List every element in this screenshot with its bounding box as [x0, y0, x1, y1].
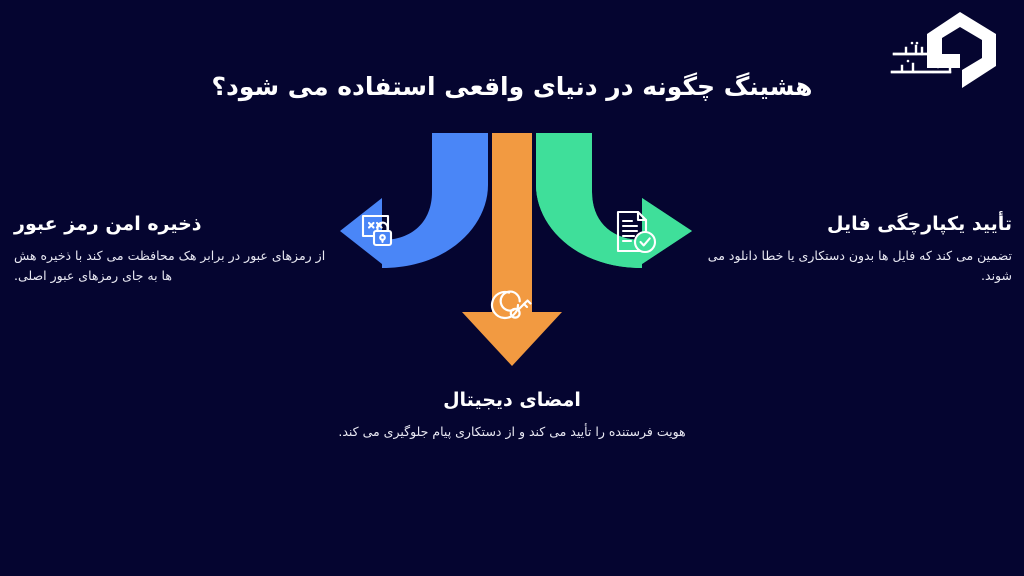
card-digital-signature: امضای دیجیتال هویت فرستنده را تأیید می ک… [312, 388, 712, 442]
green-curved-arrow-right [536, 133, 692, 268]
card-signature-body: هویت فرستنده را تأیید می کند و از دستکار… [312, 422, 712, 443]
password-lock-icon [363, 216, 391, 245]
card-integrity-heading: تأیید یکپارچگی فایل [700, 212, 1012, 237]
page-title: هشینگ چگونه در دنیای واقعی استفاده می شو… [0, 72, 1024, 102]
infographic-canvas: هشینگ چگونه در دنیای واقعی استفاده می شو… [0, 0, 1024, 576]
card-file-integrity: تأیید یکپارچگی فایل تضمین می کند که فایل… [700, 212, 1012, 287]
key-circle-icon [492, 292, 530, 318]
card-signature-heading: امضای دیجیتال [312, 388, 712, 413]
card-password-storage: ذخیره امن رمز عبور از رمزهای عبور در برا… [14, 212, 326, 287]
orange-arrow-down [462, 133, 562, 366]
card-integrity-body: تضمین می کند که فایل ها بدون دستکاری یا … [700, 246, 1012, 287]
blue-curved-arrow-left [340, 133, 488, 268]
document-check-icon [618, 212, 655, 252]
card-password-body: از رمزهای عبور در برابر هک محافظت می کند… [14, 246, 326, 287]
card-password-heading: ذخیره امن رمز عبور [14, 212, 326, 237]
